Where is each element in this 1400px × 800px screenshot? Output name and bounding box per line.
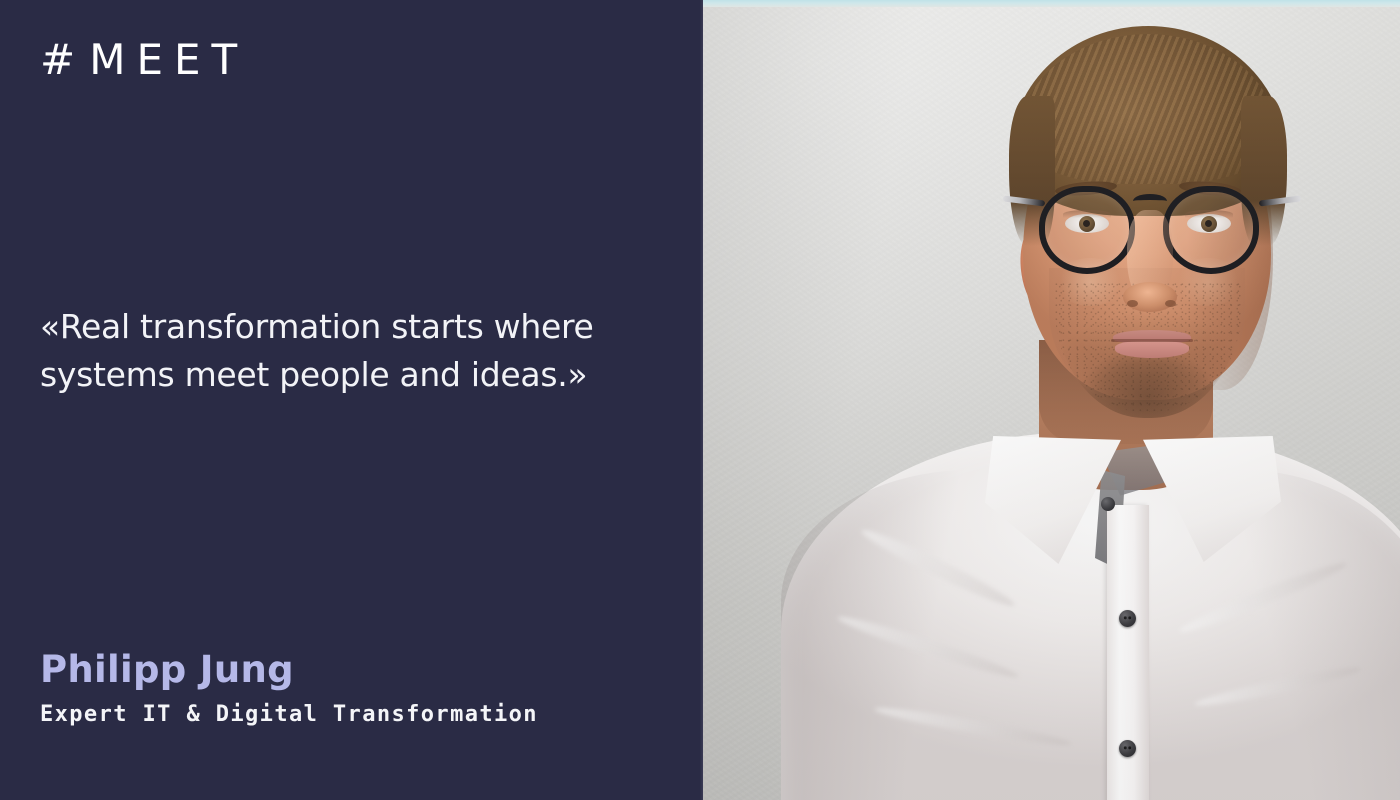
lower-lip <box>1115 341 1189 358</box>
portrait-subject <box>703 0 1400 800</box>
shirt-button <box>1119 740 1136 757</box>
nostril-right <box>1165 300 1176 307</box>
nostril-left <box>1127 300 1138 307</box>
brand-logo: #MEET <box>40 39 248 81</box>
photo-top-strip <box>703 0 1400 7</box>
identity-block: Philipp Jung Expert IT & Digital Transfo… <box>40 648 670 728</box>
glasses-lens-right <box>1163 186 1259 274</box>
person-name: Philipp Jung <box>40 648 670 692</box>
glasses-lens-left <box>1039 186 1135 274</box>
glasses-bridge <box>1133 194 1167 208</box>
person-role: Expert IT & Digital Transformation <box>40 702 670 728</box>
quote-text: «Real transformation starts where system… <box>40 303 660 398</box>
hash-icon: # <box>40 35 89 84</box>
nose-tip <box>1123 282 1177 312</box>
info-panel: #MEET «Real transformation starts where … <box>0 0 703 800</box>
shirt-button-collar <box>1101 497 1115 511</box>
meet-profile-card: #MEET «Real transformation starts where … <box>0 0 1400 800</box>
mouth-line <box>1111 339 1193 342</box>
shirt-button <box>1119 610 1136 627</box>
portrait-photo <box>703 0 1400 800</box>
brand-label: MEET <box>89 35 248 84</box>
